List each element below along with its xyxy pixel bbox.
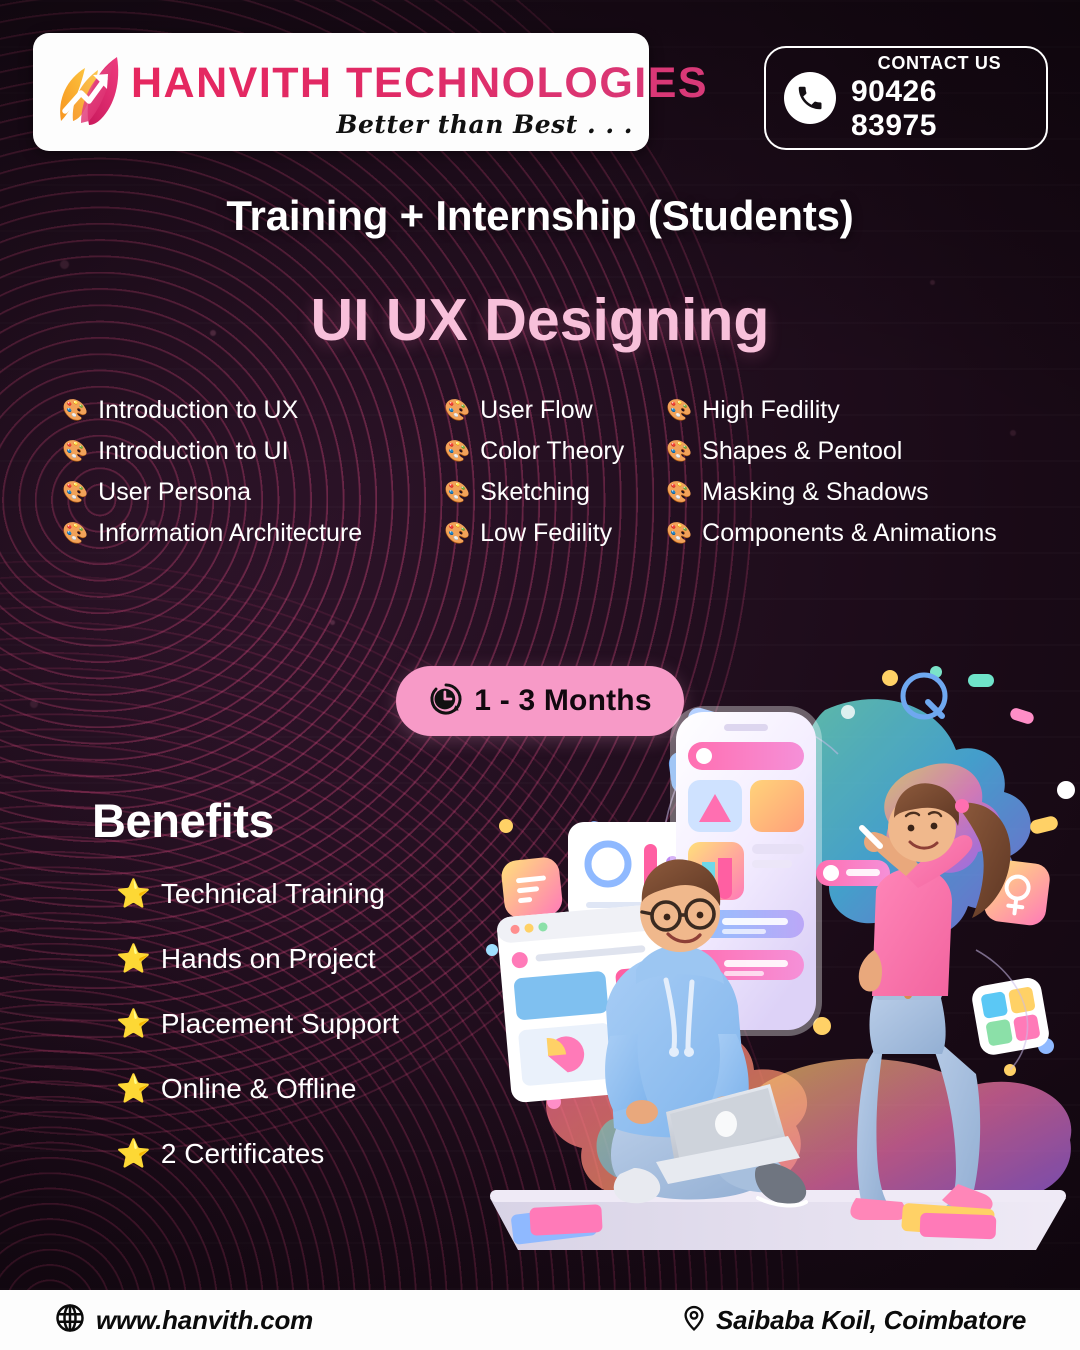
benefit-label: Placement Support — [161, 1008, 399, 1040]
topic-item: 🎨 High Fedility — [666, 398, 1042, 423]
star-icon: ⭐ — [116, 1010, 151, 1038]
topic-label: Components & Animations — [702, 521, 997, 546]
artist-palette-icon: 🎨 — [444, 482, 470, 503]
star-icon: ⭐ — [116, 1140, 151, 1168]
artist-palette-icon: 🎨 — [62, 400, 88, 421]
logo-card: HANVITH TECHNOLOGIES Better than Best . … — [33, 33, 649, 151]
artist-palette-icon: 🎨 — [666, 523, 692, 544]
artist-palette-icon: 🎨 — [62, 482, 88, 503]
topic-label: Low Fedility — [480, 521, 612, 546]
topic-item: 🎨 Information Architecture — [62, 521, 444, 546]
topic-item: 🎨 Masking & Shadows — [666, 480, 1042, 505]
artist-palette-icon: 🎨 — [666, 400, 692, 421]
benefit-label: Hands on Project — [161, 943, 376, 975]
benefits-list: ⭐ Technical Training ⭐ Hands on Project … — [116, 878, 399, 1170]
clock-history-icon — [428, 681, 464, 722]
artist-palette-icon: 🎨 — [62, 523, 88, 544]
topic-label: Shapes & Pentool — [702, 439, 902, 464]
benefit-label: 2 Certificates — [161, 1138, 324, 1170]
topic-label: Masking & Shadows — [702, 480, 929, 505]
location-text: Saibaba Koil, Coimbatore — [716, 1305, 1026, 1336]
contact-label: CONTACT US — [878, 53, 1002, 74]
topic-label: High Fedility — [702, 398, 840, 423]
benefit-item: ⭐ Hands on Project — [116, 943, 399, 975]
topic-label: Information Architecture — [98, 521, 362, 546]
topic-item: 🎨 User Persona — [62, 480, 444, 505]
topic-item: 🎨 Low Fedility — [444, 521, 666, 546]
topic-label: Sketching — [480, 480, 590, 505]
contact-box[interactable]: CONTACT US 90426 83975 — [764, 46, 1048, 150]
topic-item: 🎨 Sketching — [444, 480, 666, 505]
star-icon: ⭐ — [116, 945, 151, 973]
contact-lines: CONTACT US 90426 83975 — [851, 53, 1028, 143]
topic-label: User Flow — [480, 398, 593, 423]
topic-label: Introduction to UX — [98, 398, 298, 423]
footer-website[interactable]: www.hanvith.com — [55, 1303, 313, 1338]
topic-item: 🎨 Components & Animations — [666, 521, 1042, 546]
topics-grid: 🎨 Introduction to UX 🎨 Introduction to U… — [62, 398, 1042, 546]
topic-item: 🎨 Introduction to UI — [62, 439, 444, 464]
poster-root: HANVITH TECHNOLOGIES Better than Best . … — [0, 0, 1080, 1350]
benefit-item: ⭐ Online & Offline — [116, 1073, 399, 1105]
topic-label: Color Theory — [480, 439, 624, 464]
company-name: HANVITH TECHNOLOGIES — [131, 59, 708, 108]
artist-palette-icon: 🎨 — [62, 441, 88, 462]
topic-item: 🎨 User Flow — [444, 398, 666, 423]
benefit-item: ⭐ 2 Certificates — [116, 1138, 399, 1170]
ui-ux-designers-3d-illustration: Ω — [470, 650, 1080, 1295]
topic-item: 🎨 Color Theory — [444, 439, 666, 464]
leaf-arrow-logo-icon — [51, 49, 129, 135]
phone-icon — [784, 72, 836, 124]
topic-label: User Persona — [98, 480, 251, 505]
contact-number[interactable]: 90426 83975 — [851, 75, 1028, 143]
artist-palette-icon: 🎨 — [444, 441, 470, 462]
logo-text-block: HANVITH TECHNOLOGIES Better than Best . … — [129, 33, 635, 151]
benefits-heading: Benefits — [92, 793, 274, 848]
topic-item: 🎨 Introduction to UX — [62, 398, 444, 423]
topics-column-2: 🎨 User Flow 🎨 Color Theory 🎨 Sketching 🎨… — [444, 398, 666, 546]
artist-palette-icon: 🎨 — [444, 400, 470, 421]
footer-bar: www.hanvith.com Saibaba Koil, Coimbatore — [0, 1290, 1080, 1350]
artist-palette-icon: 🎨 — [666, 441, 692, 462]
star-icon: ⭐ — [116, 880, 151, 908]
topics-column-3: 🎨 High Fedility 🎨 Shapes & Pentool 🎨 Mas… — [666, 398, 1042, 546]
benefit-label: Technical Training — [161, 878, 385, 910]
globe-icon — [55, 1303, 85, 1338]
topic-label: Introduction to UI — [98, 439, 288, 464]
benefit-label: Online & Offline — [161, 1073, 357, 1105]
artist-palette-icon: 🎨 — [444, 523, 470, 544]
website-url[interactable]: www.hanvith.com — [96, 1305, 313, 1336]
artist-palette-icon: 🎨 — [666, 482, 692, 503]
kicker-heading: Training + Internship (Students) — [0, 192, 1080, 240]
benefit-item: ⭐ Technical Training — [116, 878, 399, 910]
footer-location: Saibaba Koil, Coimbatore — [680, 1304, 1026, 1337]
topic-item: 🎨 Shapes & Pentool — [666, 439, 1042, 464]
company-tagline: Better than Best . . . — [336, 110, 633, 139]
benefit-item: ⭐ Placement Support — [116, 1008, 399, 1040]
topics-column-1: 🎨 Introduction to UX 🎨 Introduction to U… — [62, 398, 444, 546]
star-icon: ⭐ — [116, 1075, 151, 1103]
page-title: UI UX Designing — [0, 286, 1080, 354]
map-pin-icon — [680, 1304, 708, 1337]
